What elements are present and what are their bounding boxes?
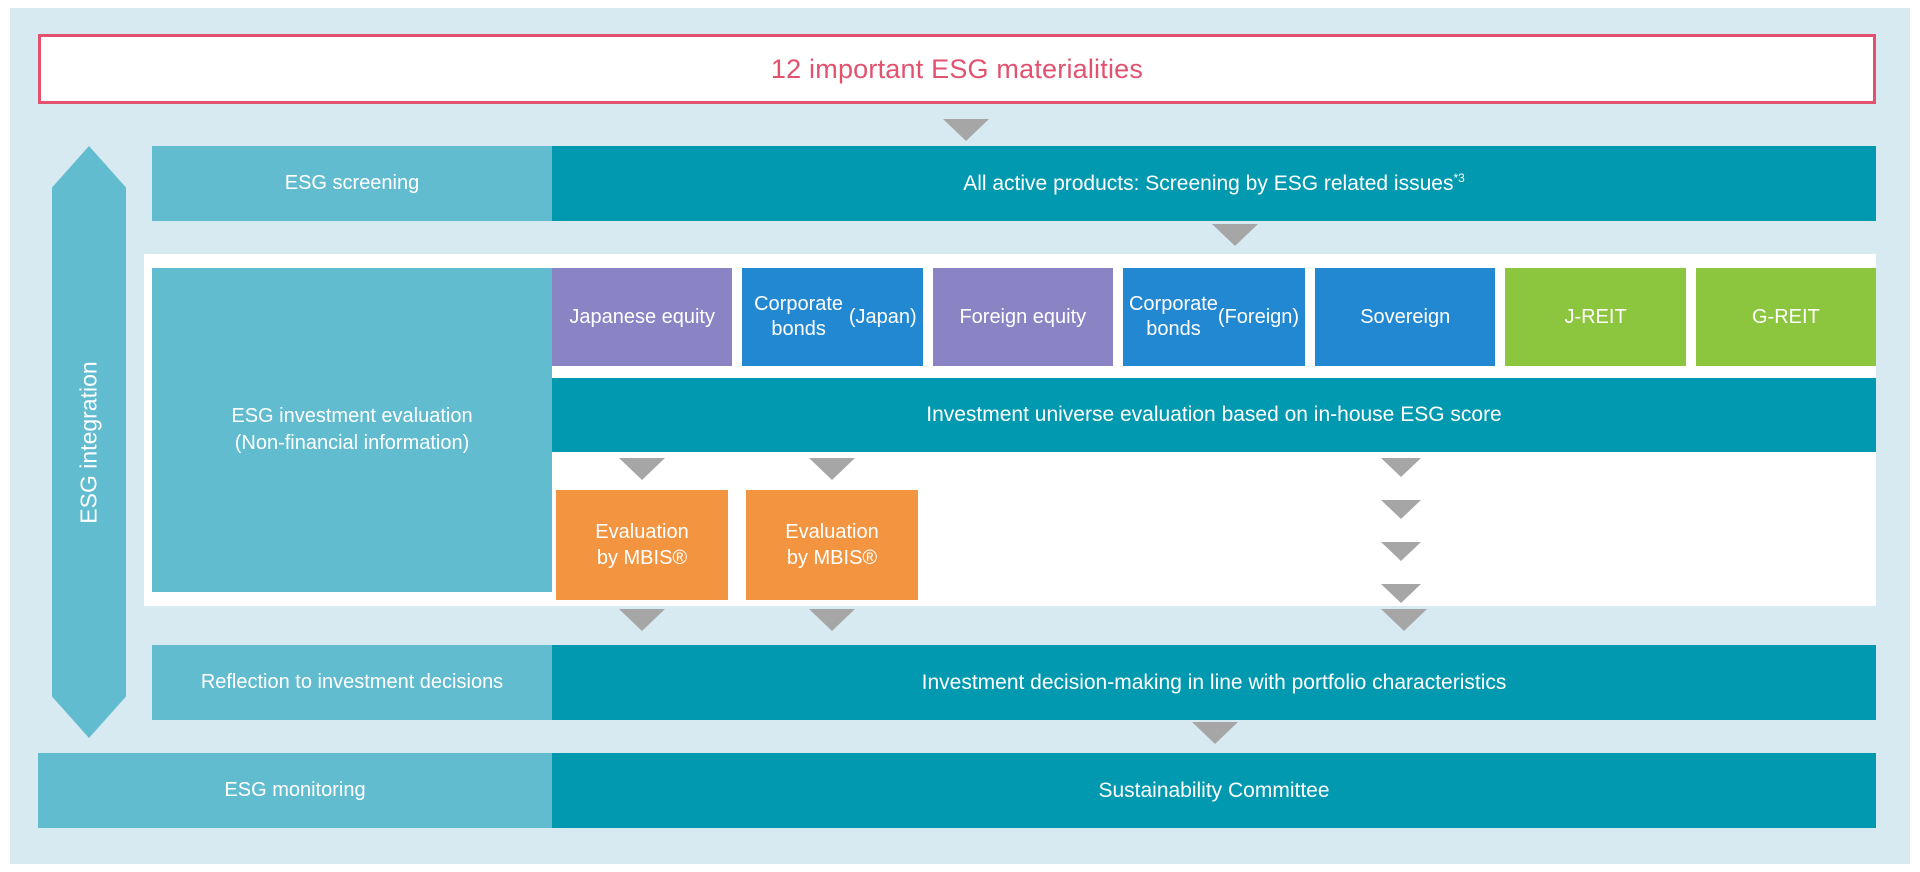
- arrow-down-icon-mbis-2-to-decisions: [809, 609, 855, 631]
- esg-screening-bar-superscript: *3: [1453, 171, 1464, 185]
- row-label-esg-investment-evaluation: ESG investment evaluation (Non-financial…: [152, 268, 552, 592]
- asset-class-chip: G-REIT: [1696, 268, 1876, 366]
- monitoring-bar-text: Sustainability Committee: [1098, 779, 1329, 803]
- row-label-esg-screening: ESG screening: [152, 146, 552, 221]
- monitoring-label-text: ESG monitoring: [224, 777, 365, 804]
- arrow-down-icon-decisions-to-monitoring: [1192, 722, 1238, 744]
- asset-class-chip-label: (Foreign): [1218, 305, 1299, 330]
- mbis-box-1-line-1: Evaluation: [595, 521, 688, 543]
- asset-class-chip-label: (Japan): [849, 305, 917, 330]
- arrow-down-icon-screening-to-evaluation: [1212, 224, 1258, 246]
- row-label-reflection-to-investment-decisions: Reflection to investment decisions: [152, 645, 552, 720]
- evaluation-label-line-2: (Non-financial information): [235, 430, 470, 457]
- arrow-down-icon-to-mbis-1: [619, 458, 665, 480]
- asset-class-chip-label: Corporate bonds: [748, 292, 849, 342]
- evaluation-label-line-1: ESG investment evaluation: [231, 403, 472, 430]
- arrow-down-icon-mbis-1-to-decisions: [619, 609, 665, 631]
- mbis-box-1-text: Evaluationby MBIS®: [595, 519, 688, 571]
- mbis-evaluation-box-1: Evaluationby MBIS®: [556, 490, 728, 600]
- decisions-label-text: Reflection to investment decisions: [201, 669, 503, 696]
- row-label-esg-monitoring: ESG monitoring: [38, 753, 552, 828]
- row-bar-investment-decision-making: Investment decision-making in line with …: [552, 645, 1876, 720]
- arrow-down-icon-banner-to-screening: [943, 119, 989, 141]
- investment-universe-text: Investment universe evaluation based on …: [926, 403, 1502, 427]
- asset-class-chip: J-REIT: [1505, 268, 1685, 366]
- row-bar-esg-screening: All active products: Screening by ESG re…: [552, 146, 1876, 221]
- asset-class-chip-label: J-REIT: [1564, 305, 1626, 330]
- esg-screening-bar-main: All active products: Screening by ESG re…: [963, 172, 1453, 195]
- asset-class-chip: Corporate bonds(Foreign): [1123, 268, 1305, 366]
- row-bar-sustainability-committee: Sustainability Committee: [552, 753, 1876, 828]
- decisions-bar-text: Investment decision-making in line with …: [922, 671, 1507, 695]
- arrow-down-icon-to-mbis-2: [809, 458, 855, 480]
- asset-class-row: Japanese equityCorporate bonds(Japan)For…: [552, 268, 1876, 366]
- asset-class-chip: Sovereign: [1315, 268, 1495, 366]
- esg-screening-bar-text: All active products: Screening by ESG re…: [963, 172, 1465, 196]
- asset-class-chip: Corporate bonds(Japan): [742, 268, 922, 366]
- asset-class-chip-label: Corporate bonds: [1129, 292, 1218, 342]
- arrow-down-icon-stack-1: [1381, 458, 1421, 477]
- mbis-box-1-line-2: by MBIS®: [597, 547, 687, 569]
- row-bar-investment-universe: Investment universe evaluation based on …: [552, 378, 1876, 452]
- esg-integration-label: ESG integration: [76, 361, 103, 523]
- asset-class-chip-label: Sovereign: [1360, 305, 1450, 330]
- arrow-down-icon-stack-2: [1381, 500, 1421, 519]
- esg-integration-arrow: ESG integration: [52, 146, 126, 738]
- asset-class-chip-label: Foreign equity: [959, 305, 1086, 330]
- asset-class-chip: Japanese equity: [552, 268, 732, 366]
- asset-class-chip-label: G-REIT: [1752, 305, 1820, 330]
- materialities-banner: 12 important ESG materialities: [38, 34, 1876, 104]
- arrow-down-icon-stack-to-decisions: [1381, 609, 1427, 631]
- materialities-title: 12 important ESG materialities: [771, 54, 1143, 85]
- arrow-down-icon-stack-3: [1381, 542, 1421, 561]
- mbis-box-2-line-1: Evaluation: [785, 521, 878, 543]
- asset-class-chip: Foreign equity: [933, 268, 1113, 366]
- esg-screening-label-text: ESG screening: [285, 170, 420, 197]
- mbis-evaluation-box-2: Evaluationby MBIS®: [746, 490, 918, 600]
- mbis-box-2-text: Evaluationby MBIS®: [785, 519, 878, 571]
- diagram-canvas: 12 important ESG materialities ESG integ…: [0, 0, 1920, 872]
- arrow-down-icon-stack-4: [1381, 584, 1421, 603]
- mbis-box-2-line-2: by MBIS®: [787, 547, 877, 569]
- asset-class-chip-label: Japanese equity: [569, 305, 715, 330]
